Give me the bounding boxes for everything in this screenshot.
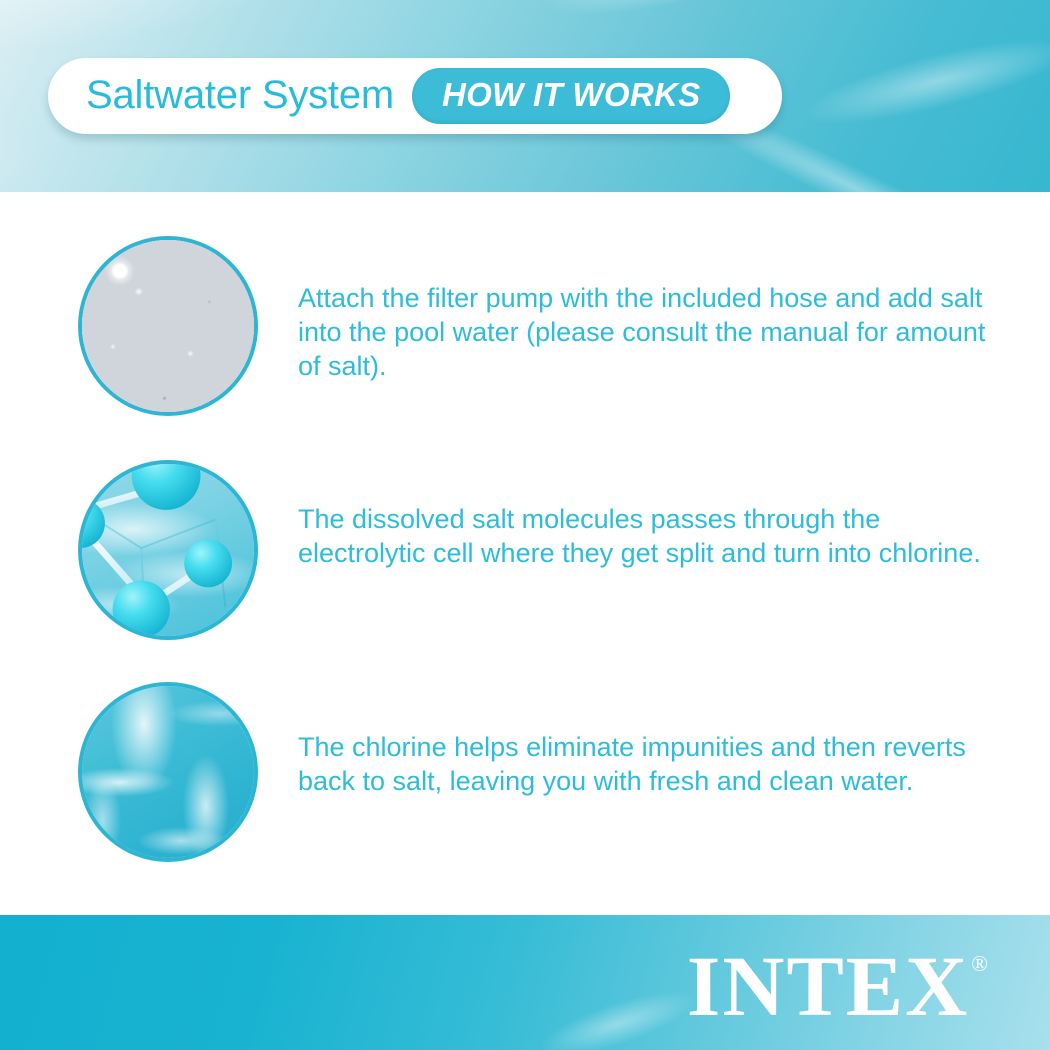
step-description: The chlorine helps eliminate impunities … [298, 730, 988, 798]
how-it-works-badge: HOW IT WORKS [412, 68, 730, 124]
salt-crystals-image [78, 236, 258, 416]
steps-section: Attach the filter pump with the included… [0, 192, 1050, 915]
step-item: The chlorine helps eliminate impunities … [0, 682, 1050, 862]
registered-trademark-icon: ® [971, 953, 988, 975]
saltwater-system-infographic: Saltwater System HOW IT WORKS Attach the… [0, 0, 1050, 1050]
salt-crystals-texture [82, 240, 254, 412]
step-description: The dissolved salt molecules passes thro… [298, 502, 988, 570]
step-description: Attach the filter pump with the included… [298, 281, 988, 383]
salt-molecule-image [78, 460, 258, 640]
intex-logo: INTEX ® [687, 943, 988, 1029]
pool-water-texture [82, 686, 254, 858]
title-pill: Saltwater System HOW IT WORKS [48, 58, 782, 134]
page-title: Saltwater System [86, 75, 394, 115]
header-banner: Saltwater System HOW IT WORKS [0, 0, 1050, 192]
how-it-works-label: HOW IT WORKS [442, 76, 700, 114]
brand-wordmark: INTEX [687, 943, 969, 1029]
molecule-diagram-icon [82, 464, 254, 636]
step-item: Attach the filter pump with the included… [0, 236, 1050, 416]
step-item: The dissolved salt molecules passes thro… [0, 460, 1050, 640]
footer-banner: INTEX ® [0, 915, 1050, 1050]
clean-pool-water-image [78, 682, 258, 862]
